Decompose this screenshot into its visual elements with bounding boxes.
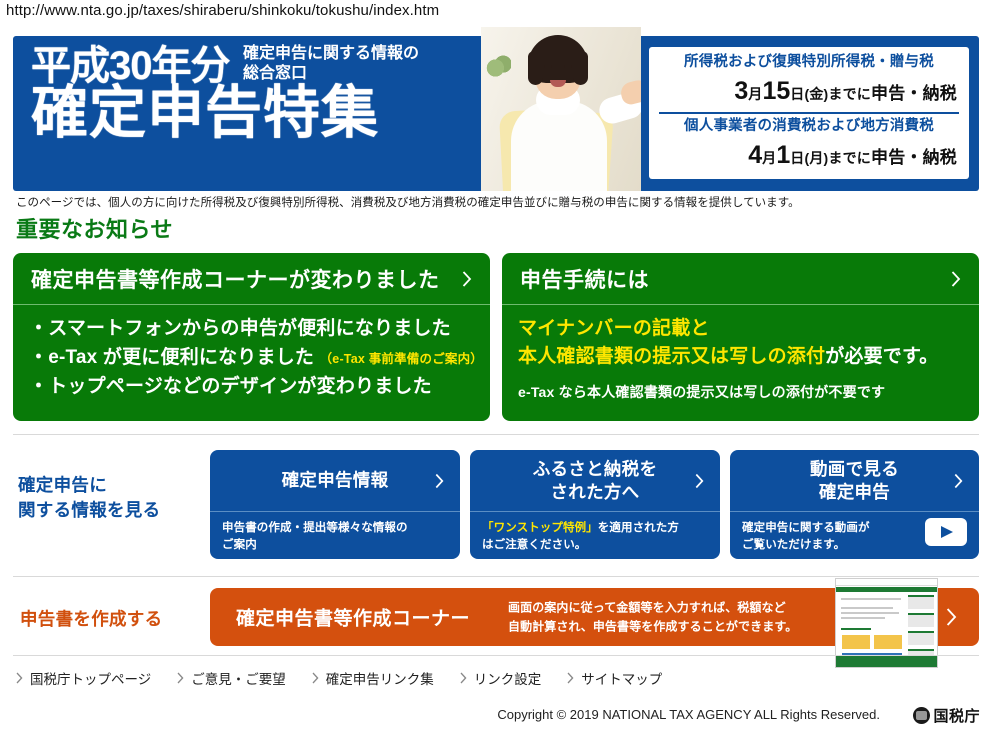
chevron-right-icon bbox=[435, 473, 444, 488]
notice-panel-body: ・スマートフォンからの申告が便利になりました ・e-Tax が更に便利になりまし… bbox=[13, 305, 490, 402]
notice-panel-body: マイナンバーの記載と 本人確認書類の提示又は写しの添付が必要です。 e-Tax … bbox=[502, 305, 979, 402]
deadline-day-unit: 日 bbox=[790, 150, 804, 166]
card-desc-line1: を適用された方 bbox=[598, 522, 679, 534]
deadline-date: 4月1日(月)までに申告・納税 bbox=[659, 137, 959, 175]
notice-bullet: ・e-Tax が更に便利になりました （e-Tax 事前準備のご案内） bbox=[29, 344, 474, 373]
chevron-right-icon bbox=[312, 672, 319, 684]
card-desc-line2: ご覧いただけます。 bbox=[742, 539, 845, 551]
deadline-month-unit: 月 bbox=[762, 150, 776, 166]
notice-bullet: ・トップページなどのデザインが変わりました bbox=[29, 373, 474, 402]
card-header[interactable]: 動画で見る 確定申告 bbox=[730, 450, 979, 512]
notice-highlight-line1: マイナンバーの記載と bbox=[518, 315, 963, 343]
info-section-label: 確定申告に 関する情報を見る bbox=[18, 473, 160, 524]
deadline-weekday: (金) bbox=[804, 86, 828, 102]
card-desc-line2: ご案内 bbox=[222, 539, 257, 551]
deadline-heading: 所得税および復興特別所得税・贈与税 bbox=[659, 52, 959, 73]
card-title: 動画で見る 確定申告 bbox=[810, 458, 899, 504]
notice-subtext: e-Tax なら本人確認書類の提示又は写しの添付が不要です bbox=[518, 382, 963, 402]
card-furusato-nozei[interactable]: ふるさと納税を された方へ 「ワンストップ特例」を適用された方 はご注意ください… bbox=[470, 450, 720, 559]
notice-bullet-note[interactable]: （e-Tax 事前準備のご案内） bbox=[320, 352, 483, 366]
copyright-text: Copyright © 2019 NATIONAL TAX AGENCY ALL… bbox=[497, 707, 880, 722]
card-title: ふるさと納税を された方へ bbox=[533, 458, 658, 504]
notice-bullet: ・スマートフォンからの申告が便利になりました bbox=[29, 315, 474, 344]
footer-link-feedback[interactable]: ご意見・ご要望 bbox=[177, 668, 286, 688]
footer-link-link-settings[interactable]: リンク設定 bbox=[460, 668, 542, 688]
nta-logo-text: 国税庁 bbox=[933, 705, 980, 726]
create-desc-line1: 画面の案内に従って金額等を入力すれば、税額など bbox=[508, 600, 786, 614]
hero-title-block: 平成30年分 確定申告に関する情報の 総合窓口 確定申告特集 bbox=[31, 44, 491, 143]
notice-panel-header[interactable]: 申告手続には bbox=[502, 253, 979, 305]
deadline-day-number: 15 bbox=[762, 77, 790, 105]
deadline-row-consumption-tax: 個人事業者の消費税および地方消費税 4月1日(月)までに申告・納税 bbox=[659, 112, 959, 172]
card-video-tax-return[interactable]: 動画で見る 確定申告 確定申告に関する動画が ご覧いただけます。 bbox=[730, 450, 979, 559]
woman-presenting-photo bbox=[481, 27, 641, 191]
footer-links: 国税庁トップページ ご意見・ご要望 確定申告リンク集 リンク設定 サイトマップ bbox=[16, 668, 662, 688]
play-video-icon[interactable] bbox=[925, 518, 967, 546]
chevron-right-icon bbox=[462, 271, 472, 287]
chevron-right-icon bbox=[177, 672, 184, 684]
card-header[interactable]: 確定申告情報 bbox=[210, 450, 460, 512]
deadline-month-number: 3 bbox=[734, 77, 748, 105]
notice-highlight-text: 本人確認書類の提示又は写しの添付 bbox=[518, 346, 825, 367]
deadline-day-number: 1 bbox=[776, 141, 790, 169]
footer-link-nta-top[interactable]: 国税庁トップページ bbox=[16, 668, 151, 688]
chevron-right-icon bbox=[951, 271, 961, 287]
footer-link-label: ご意見・ご要望 bbox=[191, 668, 286, 688]
notice-bullet-text: ・トップページなどのデザインが変わりました bbox=[29, 376, 432, 397]
section-divider bbox=[13, 576, 979, 577]
page-root: http://www.nta.go.jp/taxes/shiraberu/shi… bbox=[0, 0, 992, 745]
page-section-title: 重要なお知らせ bbox=[16, 212, 173, 244]
footer-link-label: リンク設定 bbox=[474, 668, 542, 688]
card-title: 確定申告情報 bbox=[282, 469, 389, 492]
card-desc-line1: 確定申告に関する動画が bbox=[742, 522, 870, 534]
deadline-date: 3月15日(金)までに申告・納税 bbox=[659, 73, 959, 111]
card-title-line1: ふるさと納税を bbox=[533, 459, 658, 479]
card-desc-line1: 申告書の作成・提出等様々な情報の bbox=[222, 522, 408, 534]
card-title-line1: 動画で見る bbox=[810, 459, 899, 479]
deadline-heading: 個人事業者の消費税および地方消費税 bbox=[659, 116, 959, 137]
deadline-row-income-tax: 所得税および復興特別所得税・贈与税 3月15日(金)までに申告・納税 bbox=[659, 52, 959, 112]
deadline-action: 申告・納税 bbox=[871, 84, 957, 103]
notice-bullet-text: ・e-Tax が更に便利になりました bbox=[29, 347, 314, 368]
create-desc-line2: 自動計算され、申告書等を作成することができます。 bbox=[508, 619, 797, 633]
footer-link-label: サイトマップ bbox=[581, 668, 662, 688]
deadline-day-unit: 日 bbox=[790, 86, 804, 102]
create-banner-title: 確定申告書等作成コーナー bbox=[236, 604, 470, 631]
deadline-tail: までに bbox=[828, 86, 871, 102]
card-title-line2: された方へ bbox=[550, 482, 639, 502]
notice-panel-header[interactable]: 確定申告書等作成コーナーが変わりました bbox=[13, 253, 490, 305]
info-label-line1: 確定申告に bbox=[18, 475, 107, 495]
footer-link-label: 確定申告リンク集 bbox=[326, 668, 434, 688]
card-description: 「ワンストップ特例」を適用された方 はご注意ください。 bbox=[470, 512, 720, 555]
card-description: 確定申告に関する動画が ご覧いただけます。 bbox=[730, 512, 979, 555]
deadline-tail: までに bbox=[828, 150, 871, 166]
create-section-label: 申告書を作成する bbox=[20, 607, 162, 632]
hero-main-title: 確定申告特集 bbox=[31, 84, 491, 143]
address-bar-url[interactable]: http://www.nta.go.jp/taxes/shiraberu/shi… bbox=[6, 2, 439, 19]
deadline-action: 申告・納税 bbox=[871, 148, 957, 167]
notice-highlight-tail: が必要です。 bbox=[825, 346, 938, 367]
deadline-weekday: (月) bbox=[804, 150, 828, 166]
notice-highlight-line2: 本人確認書類の提示又は写しの添付が必要です。 bbox=[518, 343, 963, 371]
chevron-right-icon bbox=[695, 473, 704, 488]
notice-panel-title: 申告手続には bbox=[520, 264, 649, 294]
deadline-box: 所得税および復興特別所得税・贈与税 3月15日(金)までに申告・納税 個人事業者… bbox=[649, 47, 969, 179]
footer-link-linkshu[interactable]: 確定申告リンク集 bbox=[312, 668, 434, 688]
card-tax-return-info[interactable]: 確定申告情報 申告書の作成・提出等様々な情報の ご案内 bbox=[210, 450, 460, 559]
section-divider bbox=[13, 655, 979, 656]
nta-seal-icon bbox=[913, 707, 930, 724]
card-title-line2: 確定申告 bbox=[819, 482, 890, 502]
create-tax-return-banner[interactable]: 確定申告書等作成コーナー 画面の案内に従って金額等を入力すれば、税額など 自動計… bbox=[210, 588, 979, 646]
notice-bullet-text: ・スマートフォンからの申告が便利になりました bbox=[29, 318, 451, 339]
footer-link-sitemap[interactable]: サイトマップ bbox=[567, 668, 662, 688]
hero-subtitle: 確定申告に関する情報の 総合窓口 bbox=[243, 44, 419, 83]
chevron-right-icon bbox=[567, 672, 574, 684]
card-desc-highlight: 「ワンストップ特例」 bbox=[482, 522, 598, 534]
chevron-right-icon bbox=[954, 473, 963, 488]
card-header[interactable]: ふるさと納税を された方へ bbox=[470, 450, 720, 512]
deadline-month-unit: 月 bbox=[748, 86, 762, 102]
chevron-right-icon bbox=[460, 672, 467, 684]
notice-panel-title: 確定申告書等作成コーナーが変わりました bbox=[31, 264, 440, 294]
section-divider bbox=[13, 434, 979, 435]
hero-banner: 平成30年分 確定申告に関する情報の 総合窓口 確定申告特集 所得税および復興特… bbox=[13, 36, 979, 191]
hero-subtitle-line1: 確定申告に関する情報の bbox=[243, 45, 419, 62]
footer-link-label: 国税庁トップページ bbox=[30, 668, 151, 688]
card-description: 申告書の作成・提出等様々な情報の ご案内 bbox=[210, 512, 460, 555]
notice-panel-filing-procedure[interactable]: 申告手続には マイナンバーの記載と 本人確認書類の提示又は写しの添付が必要です。… bbox=[502, 253, 979, 421]
chevron-right-icon bbox=[946, 608, 957, 626]
notice-panel-creation-corner[interactable]: 確定申告書等作成コーナーが変わりました ・スマートフォンからの申告が便利になりま… bbox=[13, 253, 490, 421]
hero-subtitle-line2: 総合窓口 bbox=[243, 65, 307, 82]
info-label-line2: 関する情報を見る bbox=[18, 500, 160, 520]
nta-logo: 国税庁 bbox=[913, 705, 980, 726]
page-lead-text: このページでは、個人の方に向けた所得税及び復興特別所得税、消費税及び地方消費税の… bbox=[16, 194, 800, 210]
create-banner-description: 画面の案内に従って金額等を入力すれば、税額など 自動計算され、申告書等を作成する… bbox=[508, 598, 797, 635]
chevron-right-icon bbox=[16, 672, 23, 684]
deadline-month-number: 4 bbox=[748, 141, 762, 169]
card-desc-line2: はご注意ください。 bbox=[482, 539, 586, 551]
